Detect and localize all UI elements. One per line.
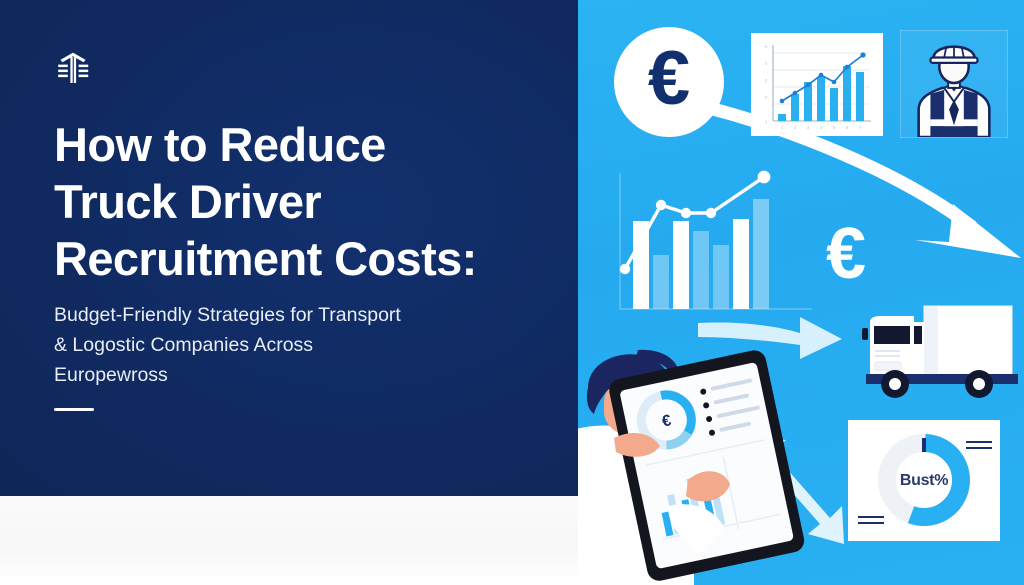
page-title: How to Reduce Truck Driver Recruitment C… <box>54 116 524 287</box>
euro-symbol: € <box>648 41 690 117</box>
banner-canvas: How to Reduce Truck Driver Recruitment C… <box>0 0 1024 585</box>
svg-text:7: 7 <box>859 125 862 130</box>
right-blue-panel: € € 5 4 3 2 <box>578 0 1024 585</box>
svg-text:1: 1 <box>765 119 768 124</box>
svg-text:3: 3 <box>765 78 768 83</box>
hexagon-building-logo-icon[interactable] <box>50 46 96 92</box>
logo-svg <box>50 46 96 92</box>
headline-line-3: Recruitment Costs: <box>54 230 524 287</box>
subtitle-line-1: Budget-Friendly Strategies for Transport <box>54 300 494 330</box>
svg-text:1: 1 <box>781 125 784 130</box>
page-subtitle: Budget-Friendly Strategies for Transport… <box>54 300 494 390</box>
growth-bar-line-card: 5 4 3 2 1 1 <box>751 33 883 136</box>
svg-text:4: 4 <box>765 61 768 66</box>
svg-text:2: 2 <box>765 95 768 100</box>
left-navy-panel: How to Reduce Truck Driver Recruitment C… <box>0 0 578 496</box>
svg-text:3: 3 <box>807 125 810 130</box>
construction-worker-icon <box>901 31 1007 137</box>
delivery-truck-card <box>848 296 1024 404</box>
delivery-truck-icon <box>848 296 1024 404</box>
left-panel-footer-band <box>0 496 578 585</box>
euro-symbol-large: € <box>826 218 866 290</box>
headline-line-1: How to Reduce <box>54 116 524 173</box>
person-with-tablet-icon: € <box>578 330 818 585</box>
donut-center-label: Bust% <box>848 472 1000 490</box>
donut-chart-card: Bust% <box>848 420 1000 541</box>
subtitle-line-2: & Logostic Companies Across <box>54 330 494 360</box>
title-divider <box>54 408 94 411</box>
svg-text:5: 5 <box>765 44 768 49</box>
subtitle-line-3: Europewross <box>54 360 494 390</box>
ghost-chart-svg <box>606 165 826 325</box>
svg-text:6: 6 <box>846 125 849 130</box>
headline-line-2: Truck Driver <box>54 173 524 230</box>
svg-text:5: 5 <box>833 125 836 130</box>
person-tablet-svg: € <box>578 330 818 585</box>
ghost-bar-line-chart <box>606 165 826 325</box>
construction-worker-card <box>900 30 1008 138</box>
growth-chart-svg: 5 4 3 2 1 1 <box>751 33 883 136</box>
euro-currency-badge: € <box>614 27 724 137</box>
svg-text:4: 4 <box>820 125 823 130</box>
svg-text:2: 2 <box>794 125 797 130</box>
